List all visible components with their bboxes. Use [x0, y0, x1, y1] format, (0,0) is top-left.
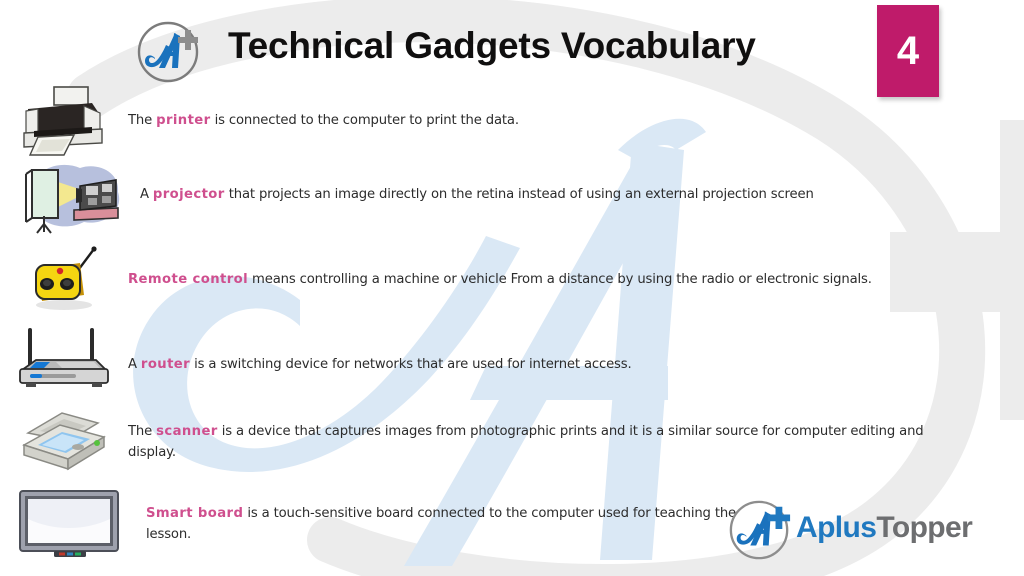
text-after: means controlling a machine or vehicle F… [248, 272, 872, 287]
text-before: A [128, 357, 141, 372]
text-after: is a switching device for networks that … [190, 357, 632, 372]
brand-primary-label: Aplus [796, 511, 876, 544]
text-before: A [140, 187, 153, 202]
vocab-row-remote-control: Remote control means controlling a machi… [0, 243, 1024, 319]
aplus-circle-logo-icon [135, 18, 203, 86]
vocab-text-smart-board: Smart board is a touch-sensitive board c… [146, 503, 751, 545]
keyword-router: router [141, 357, 190, 372]
scanner-icon [12, 405, 116, 477]
aplustopper-footer-logo: AplusTopper [727, 497, 1017, 565]
slide-canvas: Technical Gadgets Vocabulary 4 [0, 0, 1024, 576]
smart-board-icon [14, 487, 124, 561]
vocab-text-projector: A projector that projects an image direc… [140, 184, 920, 205]
brand-secondary-label: Topper [876, 511, 972, 544]
vocab-text-remote-control: Remote control means controlling a machi… [128, 269, 928, 290]
page-number-badge: 4 [877, 5, 939, 97]
page-title: Technical Gadgets Vocabulary [228, 25, 756, 67]
aplus-circle-logo-icon [727, 497, 793, 563]
projector-icon [14, 158, 126, 238]
text-before: The [128, 113, 156, 128]
keyword-projector: projector [153, 187, 225, 202]
keyword-smart-board: Smart board [146, 506, 243, 521]
text-after: that projects an image directly on the r… [225, 187, 814, 202]
vocab-text-router: A router is a switching device for netwo… [128, 354, 828, 375]
text-after: is a device that captures images from ph… [128, 424, 924, 460]
keyword-scanner: scanner [156, 424, 218, 439]
vocab-row-router: A router is a switching device for netwo… [0, 326, 1024, 398]
text-after: is connected to the computer to print th… [211, 113, 519, 128]
router-icon [10, 326, 118, 394]
text-before: The [128, 424, 156, 439]
keyword-printer: printer [156, 113, 210, 128]
page-number-label: 4 [897, 31, 919, 71]
remote-control-icon [22, 243, 112, 315]
vocab-row-projector: A projector that projects an image direc… [0, 158, 1024, 240]
vocab-text-printer: The printer is connected to the computer… [128, 110, 688, 131]
slide-header: Technical Gadgets Vocabulary 4 [0, 0, 1024, 100]
vocab-text-scanner: The scanner is a device that captures im… [128, 421, 943, 463]
brand-wordmark: AplusTopper [796, 511, 972, 545]
vocab-row-scanner: The scanner is a device that captures im… [0, 405, 1024, 481]
keyword-remote-control: Remote control [128, 272, 248, 287]
